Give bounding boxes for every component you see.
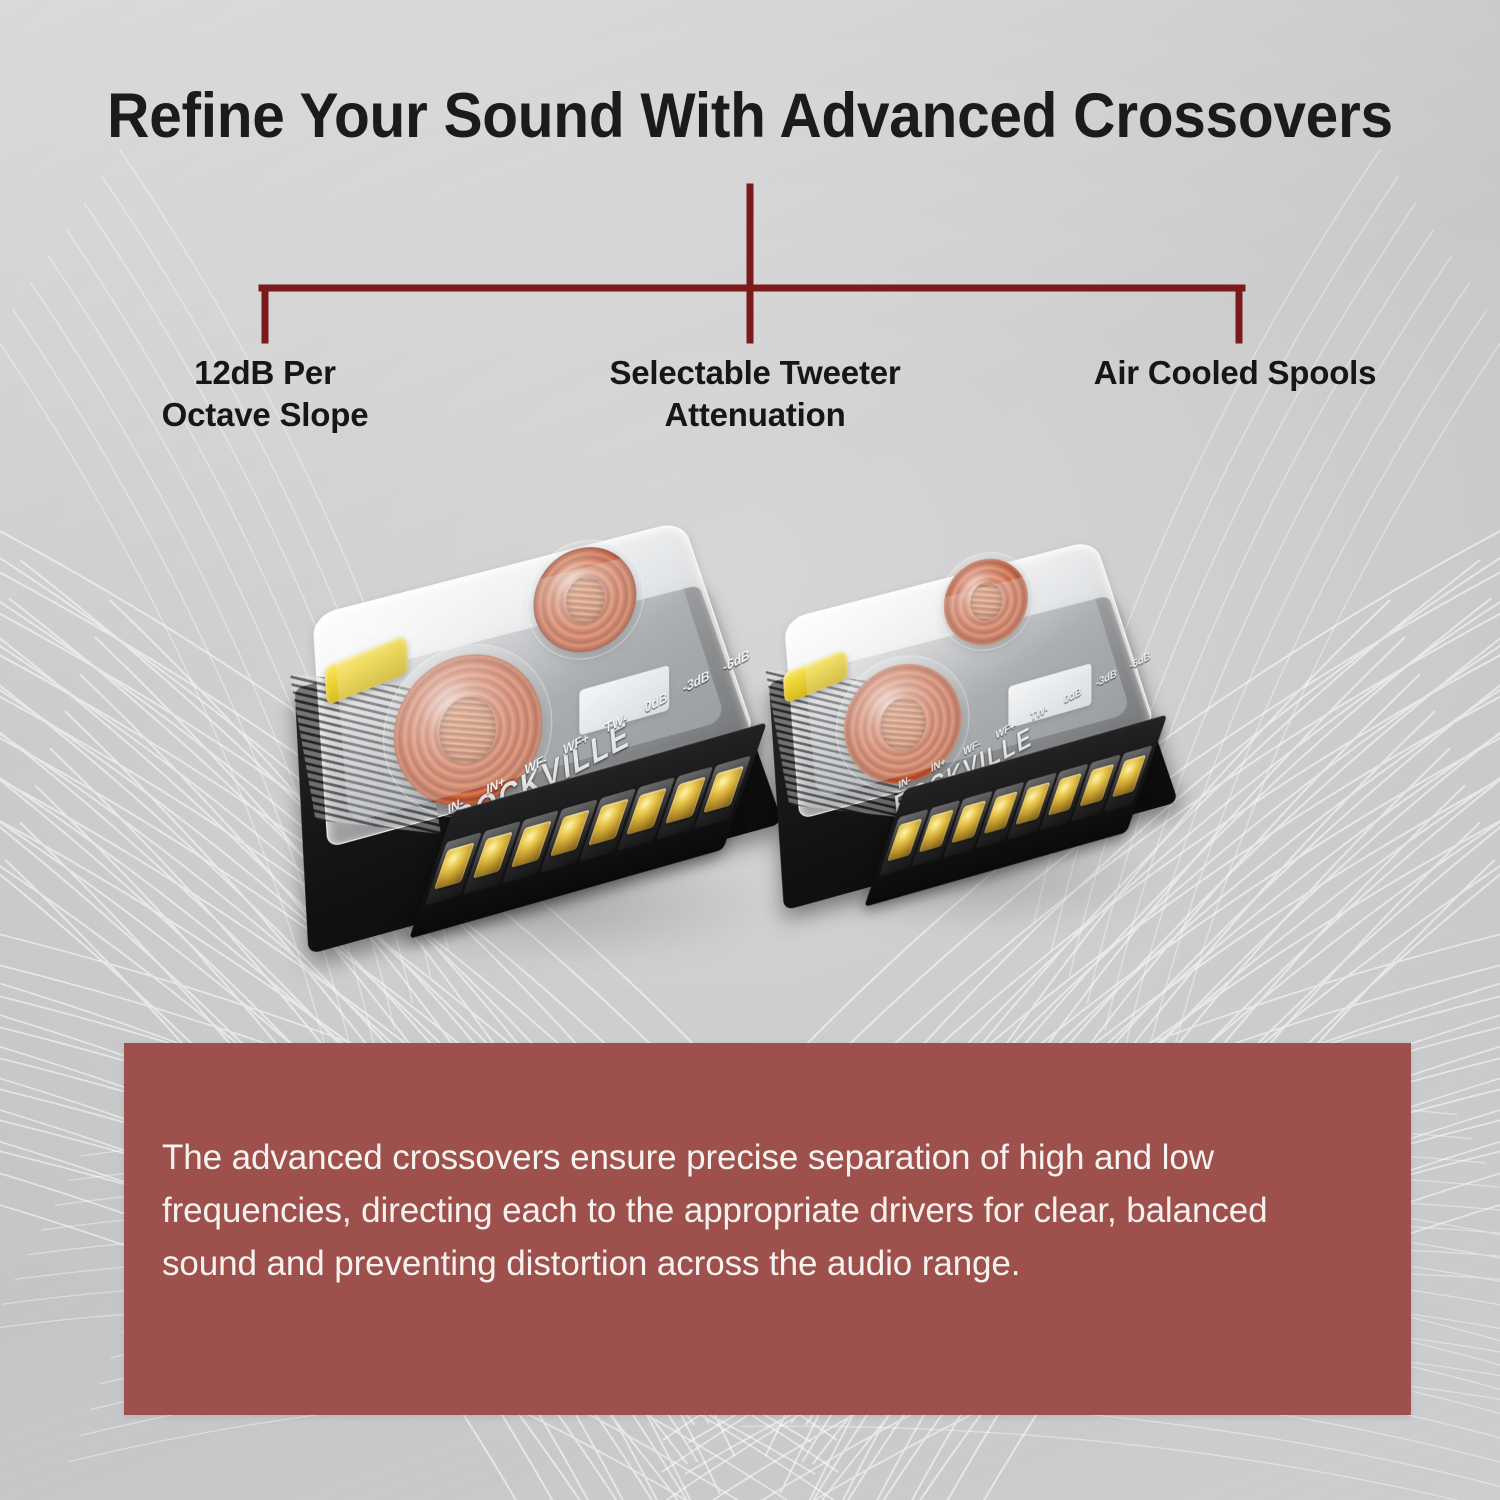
feature-label-air-cooled-spools: Air Cooled Spools [1035,352,1435,394]
feature-2-line-2: Attenuation [560,394,950,436]
feature-2-line-1: Selectable Tweeter [560,352,950,394]
page-title: Refine Your Sound With Advanced Crossove… [53,84,1448,150]
crossover-unit-left: ROCKVILLE IN- IN+ WF- WF+ TW- 0dB -3dB -… [268,512,788,962]
product-photo-stage: ROCKVILLE IN- IN+ WF- WF+ TW- 0dB -3dB -… [0,470,1500,1040]
feature-1-line-2: Octave Slope [110,394,420,436]
marketing-infographic: Refine Your Sound With Advanced Crossove… [0,0,1500,1500]
feature-label-selectable-tweeter-attenuation: Selectable Tweeter Attenuation [560,352,950,436]
description-text: The advanced crossovers ensure precise s… [162,1131,1363,1291]
feature-label-12db-per-octave-slope: 12dB Per Octave Slope [110,352,420,436]
feature-label-group: 12dB Per Octave Slope Selectable Tweeter… [0,352,1500,462]
feature-1-line-1: 12dB Per [110,352,420,394]
description-panel: The advanced crossovers ensure precise s… [124,1043,1411,1415]
feature-3-line-1: Air Cooled Spools [1035,352,1435,394]
crossover-unit-right: ROCKVILLE IN- IN+ WF- WF+ TW- 0dB -3dB -… [748,532,1183,921]
